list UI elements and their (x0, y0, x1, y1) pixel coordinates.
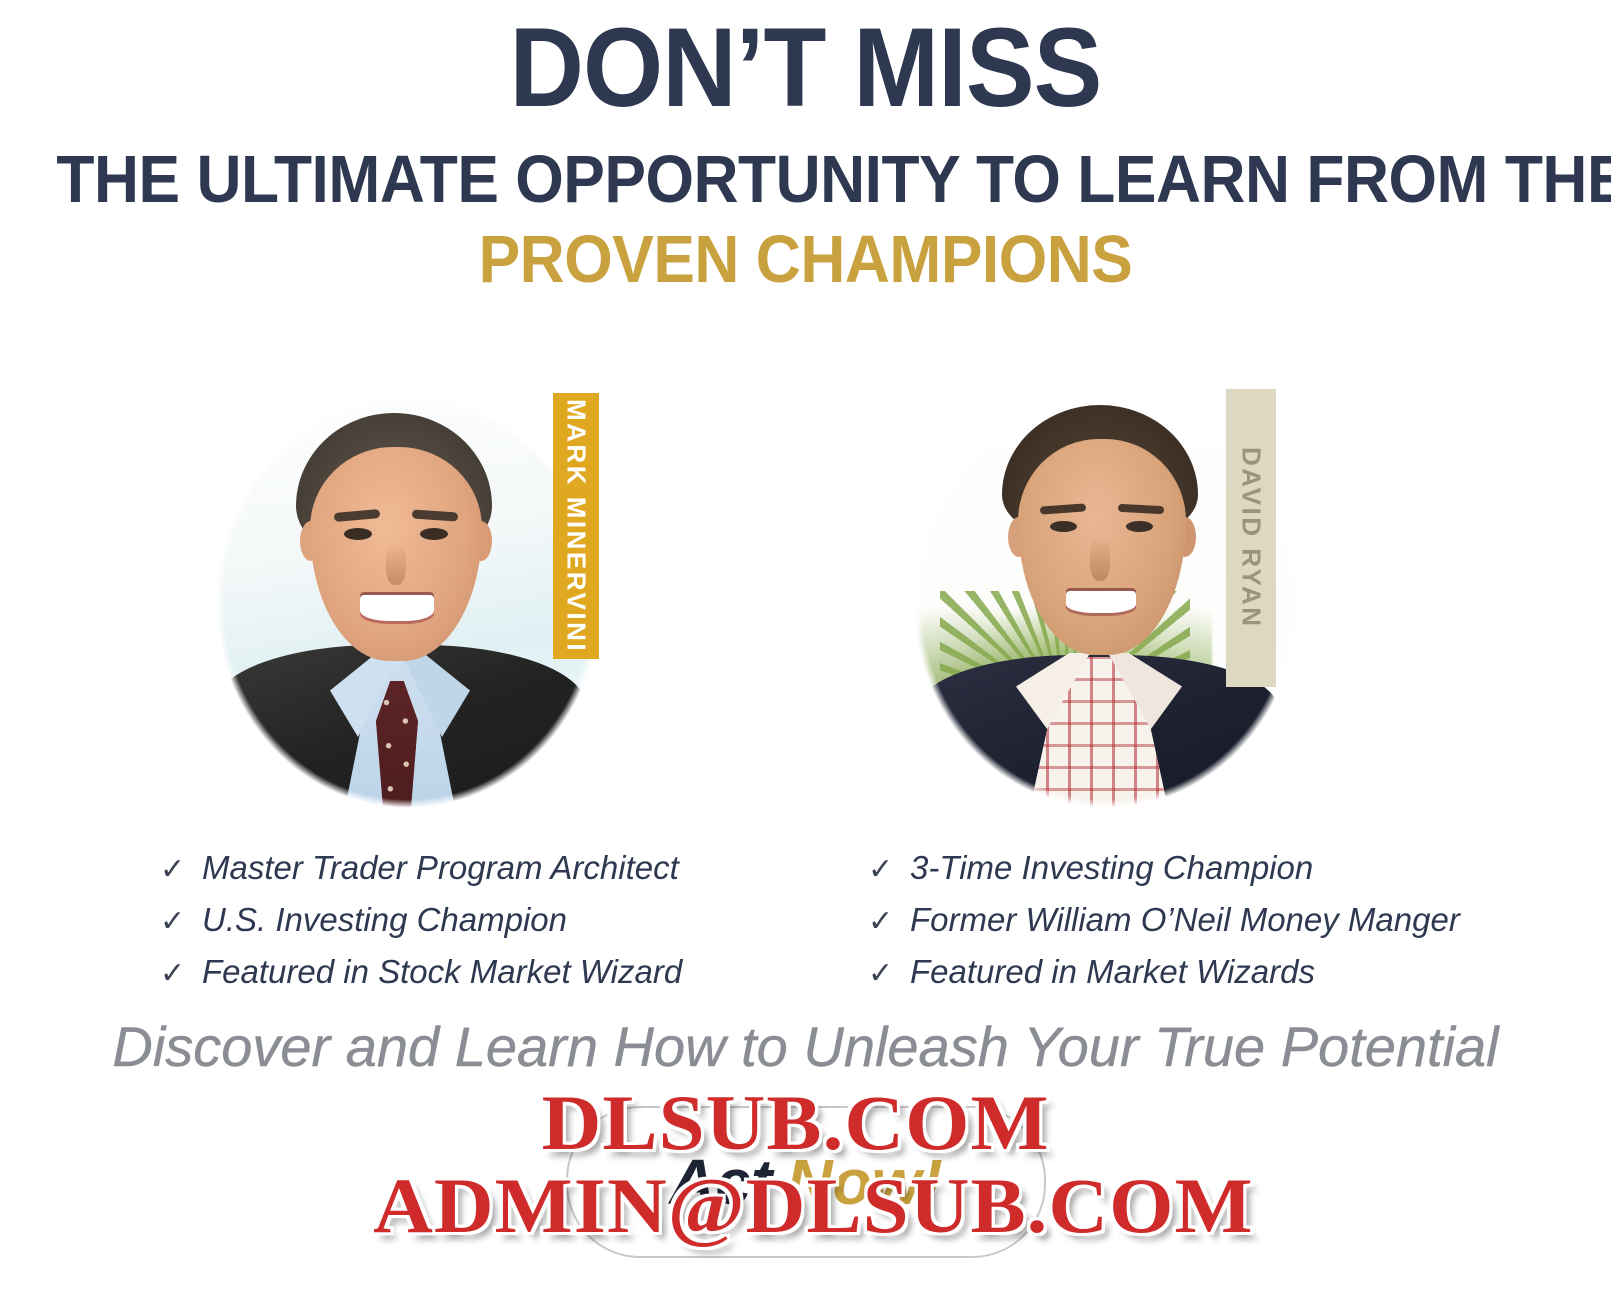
eye-left-shape (344, 528, 372, 540)
list-item: ✓ Former William O’Neil Money Manger (868, 895, 1460, 947)
check-icon: ✓ (868, 845, 910, 895)
mouth-shape (1066, 591, 1136, 613)
headline-line-3-highlight: PROVEN CHAMPIONS (56, 226, 1554, 294)
speaker-name-banner-david-ryan: DAVID RYAN (1226, 389, 1276, 687)
check-icon: ✓ (160, 897, 202, 947)
eye-right-shape (420, 528, 448, 540)
speaker-name-banner-mark-minervini: MARK MINERVINI (553, 393, 599, 659)
credential-text: 3-Time Investing Champion (910, 843, 1313, 893)
watermark-site-url: DLSUB.COM (542, 1084, 1050, 1162)
list-item: ✓ U.S. Investing Champion (160, 895, 682, 947)
list-item: ✓ 3-Time Investing Champion (868, 843, 1460, 895)
headline-line-1: DON’T MISS (64, 12, 1546, 124)
check-icon: ✓ (160, 845, 202, 895)
eye-right-shape (1126, 521, 1153, 532)
check-icon: ✓ (160, 949, 202, 999)
mouth-shape (360, 595, 434, 621)
credential-text: Former William O’Neil Money Manger (910, 895, 1460, 945)
tagline: Discover and Learn How to Unleash Your T… (0, 1016, 1611, 1078)
speaker-card-mark-minervini: MARK MINERVINI (180, 383, 640, 833)
eye-left-shape (1050, 521, 1077, 532)
credential-text: Master Trader Program Architect (202, 843, 679, 893)
speaker-photo-wrap (200, 395, 600, 825)
credential-text: Featured in Stock Market Wizard (202, 947, 682, 997)
credentials-list-david-ryan: ✓ 3-Time Investing Champion ✓ Former Wil… (868, 843, 1460, 999)
check-icon: ✓ (868, 897, 910, 947)
list-item: ✓ Featured in Stock Market Wizard (160, 947, 682, 999)
list-item: ✓ Master Trader Program Architect (160, 843, 682, 895)
credential-text: U.S. Investing Champion (202, 895, 567, 945)
nose-shape (1090, 537, 1110, 581)
headline-line-2: THE ULTIMATE OPPORTUNITY TO LEARN FROM T… (56, 146, 1554, 214)
credential-text: Featured in Market Wizards (910, 947, 1315, 997)
watermark-contact-email: ADMIN@DLSUB.COM (373, 1167, 1254, 1245)
speaker-card-david-ryan: DAVID RYAN (878, 383, 1338, 833)
nose-shape (386, 543, 406, 585)
speaker-photo-mark-minervini (200, 395, 600, 825)
credentials-list-mark-minervini: ✓ Master Trader Program Architect ✓ U.S.… (160, 843, 682, 999)
headline-block: DON’T MISS THE ULTIMATE OPPORTUNITY TO L… (0, 0, 1611, 294)
list-item: ✓ Featured in Market Wizards (868, 947, 1460, 999)
check-icon: ✓ (868, 949, 910, 999)
